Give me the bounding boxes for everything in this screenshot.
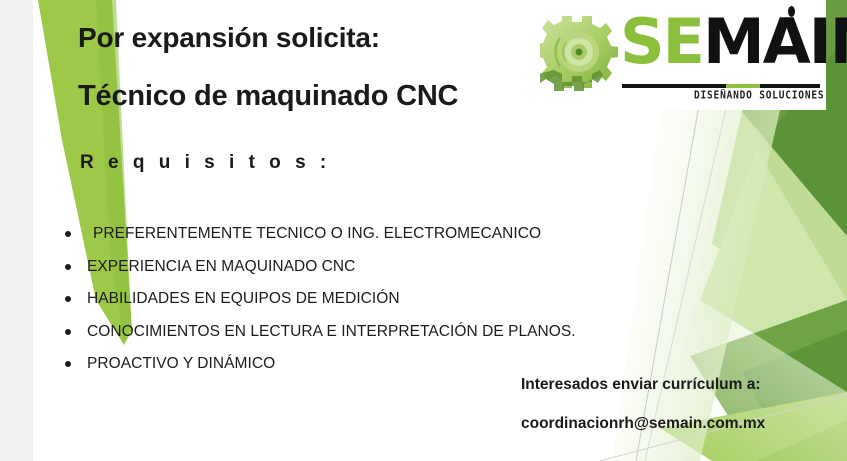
requirements-list: PREFERENTEMENTE TECNICO O ING. ELECTROME… (56, 224, 576, 387)
list-item: PROACTIVO Y DINÁMICO (56, 354, 576, 374)
headline-primary: Por expansión solicita: (78, 22, 380, 54)
contact-instruction: Interesados enviar currículum a: (521, 376, 760, 394)
list-item: HABILIDADES EN EQUIPOS DE MEDICIÓN (56, 289, 576, 309)
bullet-icon (65, 329, 71, 335)
poster-content: Por expansión solicita: Técnico de maqui… (0, 0, 847, 461)
bullet-icon (65, 231, 71, 237)
bullet-icon (65, 361, 71, 367)
list-item: PREFERENTEMENTE TECNICO O ING. ELECTROME… (56, 224, 576, 244)
list-item-label: CONOCIMIENTOS EN LECTURA E INTERPRETACIÓ… (87, 323, 576, 340)
list-item-label: EXPERIENCIA EN MAQUINADO CNC (87, 258, 355, 275)
headline-job-title: Técnico de maquinado CNC (78, 80, 458, 113)
list-item-label: PROACTIVO Y DINÁMICO (87, 355, 275, 372)
list-item: EXPERIENCIA EN MAQUINADO CNC (56, 257, 576, 277)
contact-email[interactable]: coordinacionrh@semain.com.mx (521, 415, 765, 433)
requirements-heading: R e q u i s i t o s : (80, 152, 331, 174)
bullet-icon (65, 264, 71, 270)
list-item-label: HABILIDADES EN EQUIPOS DE MEDICIÓN (87, 290, 400, 307)
bullet-icon (65, 296, 71, 302)
list-item-label: PREFERENTEMENTE TECNICO O ING. ELECTROME… (87, 224, 541, 244)
job-posting-poster: SEMAIN DISEÑANDO SOLUCIONES Por expansió… (0, 0, 847, 461)
list-item: CONOCIMIENTOS EN LECTURA E INTERPRETACIÓ… (56, 322, 576, 342)
